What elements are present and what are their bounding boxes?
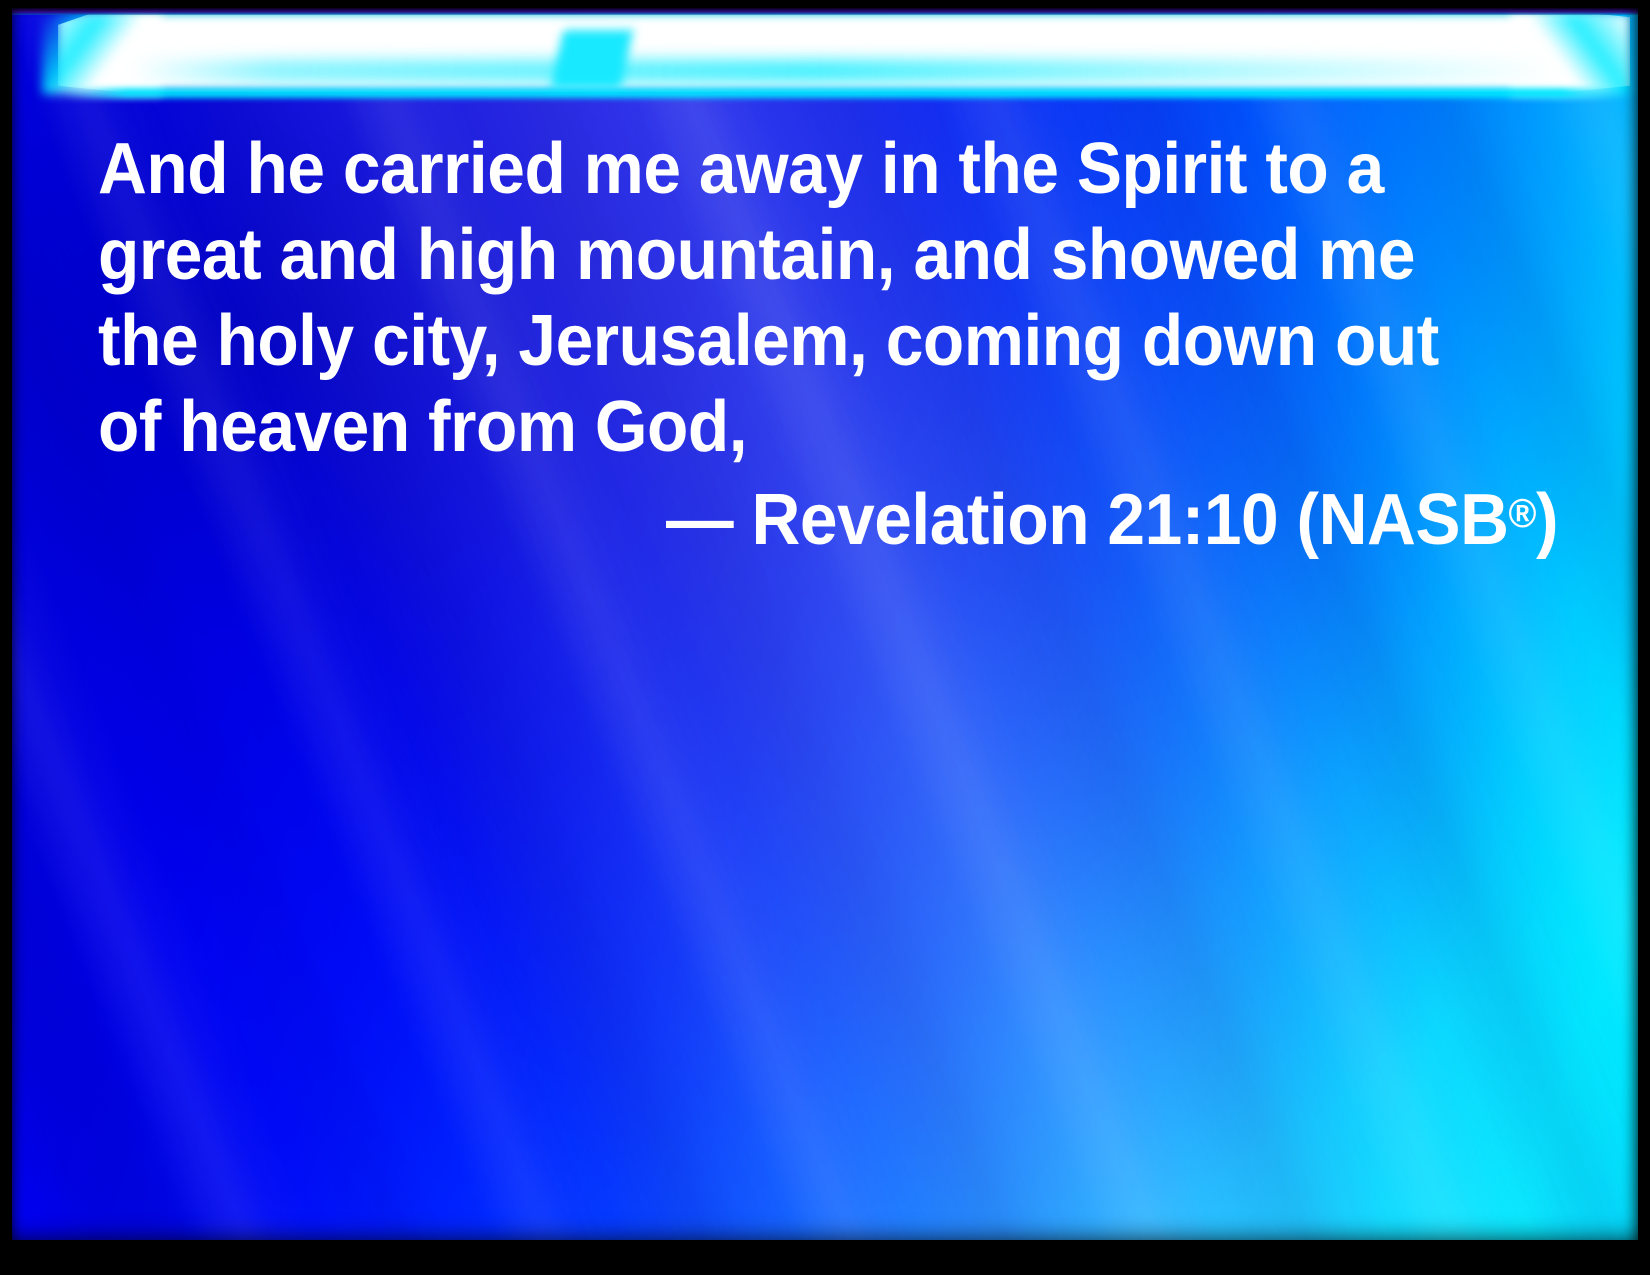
attribution-spacer-1 — [733, 480, 751, 560]
top-glow-bar — [12, 8, 1638, 108]
glow-right-taper — [1510, 14, 1630, 94]
attribution-line: — Revelation 21:10 (NASB®) — [666, 470, 1558, 563]
verse-attribution: — Revelation 21:10 (NASB®) — [98, 470, 1558, 563]
glow-bottom-cyan-edge — [64, 88, 1624, 98]
verse-line-2: great and high mountain, and showed me — [98, 212, 1470, 298]
top-violet-line — [12, 8, 1638, 15]
verse-line-3: the holy city, Jerusalem, coming down ou… — [98, 298, 1470, 384]
frame-edge-bottom — [0, 1241, 1650, 1275]
verse-text-block: And he carried me away in the Spirit to … — [98, 126, 1558, 470]
frame-edge-right — [1638, 0, 1650, 1275]
frame-edge-left — [0, 0, 12, 1275]
verse-slide: And he carried me away in the Spirit to … — [0, 0, 1650, 1275]
glow-cyan-blob — [551, 30, 633, 88]
attribution-dash: — — [666, 480, 733, 560]
verse-line-1: And he carried me away in the Spirit to … — [98, 126, 1470, 212]
attribution-spacer-2 — [1089, 480, 1107, 560]
registered-trademark-icon: ® — [1508, 490, 1535, 536]
frame-edge-top — [0, 0, 1650, 8]
attribution-book: Revelation — [751, 480, 1089, 560]
attribution-reference: 21:10 — [1107, 480, 1278, 560]
attribution-translation-open: (NASB — [1297, 480, 1509, 560]
attribution-translation-close: ) — [1536, 480, 1558, 560]
slide-canvas: And he carried me away in the Spirit to … — [12, 8, 1638, 1240]
verse-line-4: of heaven from God, — [98, 384, 1470, 470]
glow-inner-cyan-streak — [132, 60, 1558, 82]
attribution-spacer-3 — [1278, 480, 1296, 560]
glow-left-taper — [42, 14, 162, 94]
